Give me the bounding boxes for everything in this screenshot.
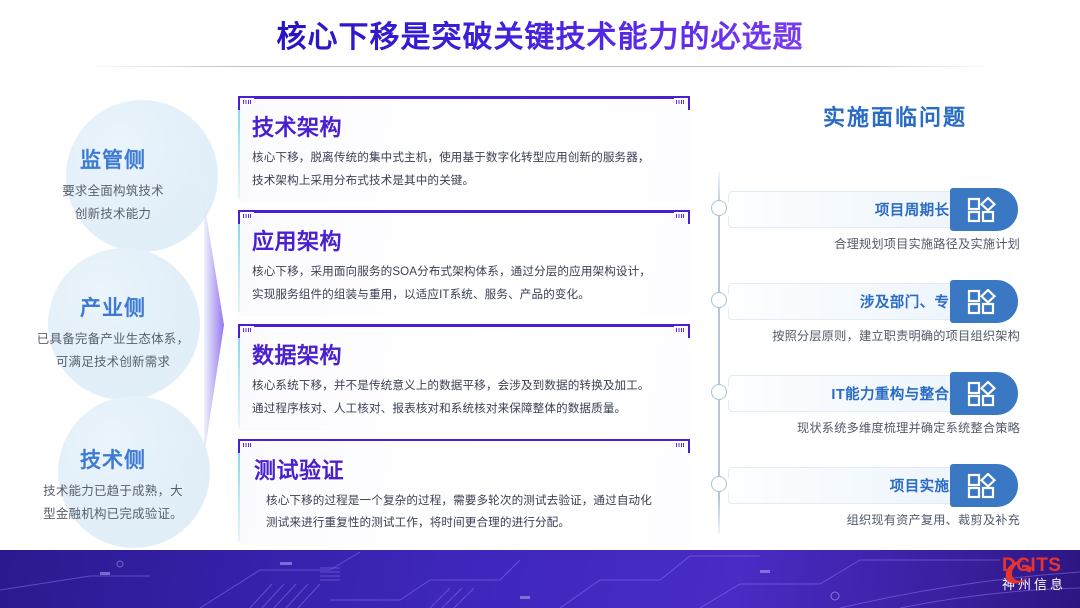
card-left-border — [238, 328, 240, 426]
left-item-desc-line: 创新技术能力 — [8, 203, 218, 226]
left-item-heading: 产业侧 — [8, 292, 218, 322]
left-item-desc-line: 型金融机构已完成验证。 — [8, 503, 218, 526]
left-panel-item-industry: 产业侧 已具备完备产业生态体系， 可满足技术创新需求 — [8, 292, 218, 374]
page-title: 核心下移是突破关键技术能力的必选题 — [277, 12, 804, 56]
card-app-architecture: 应用架构 核心下移，采用面向服务的SOA分布式架构体系，通过分层的应用架构设计，… — [238, 210, 690, 316]
timeline-dot-icon — [711, 384, 727, 400]
blocks-diamond-icon — [950, 372, 1018, 415]
card-body-line: 测试来进行重复性的测试工作，将时间更合理的进行分配。 — [266, 512, 678, 535]
card-body-line: 核心下移，采用面向服务的SOA分布式架构体系，通过分层的应用架构设计， — [252, 261, 678, 284]
arrow-leaf-icon — [190, 150, 230, 510]
left-item-heading: 监管侧 — [8, 144, 218, 174]
left-item-desc-line: 要求全面构筑技术 — [8, 180, 218, 203]
card-top-border — [254, 324, 674, 327]
card-body-line: 技术架构上采用分布式技术是其中的关键。 — [252, 170, 678, 193]
swirl-logo-icon — [1002, 556, 1036, 586]
left-panel-item-regulator: 监管侧 要求全面构筑技术 创新技术能力 — [8, 144, 218, 226]
card-tech-architecture: 技术架构 核心下移，脱离传统的集中式主机，使用基于数字化转型应用创新的服务器， … — [238, 96, 690, 202]
card-corner-top-right — [674, 210, 690, 224]
card-title: 技术架构 — [252, 110, 678, 142]
card-top-border — [254, 96, 674, 99]
left-item-desc-line: 技术能力已趋于成熟，大 — [8, 480, 218, 503]
card-test-verification: 测试验证 核心下移的过程是一个复杂的过程，需要多轮次的测试去验证，通过自动化 测… — [238, 439, 690, 545]
card-left-border — [238, 443, 240, 541]
left-panel-item-technology: 技术侧 技术能力已趋于成熟，大 型金融机构已完成验证。 — [8, 444, 218, 526]
card-body-line: 核心系统下移，并不是传统意义上的数据平移，会涉及到数据的转换及加工。 — [252, 375, 678, 398]
timeline-dot-icon — [711, 476, 727, 492]
card-title: 测试验证 — [252, 453, 678, 485]
card-top-border — [254, 210, 674, 213]
card-corner-top-left — [238, 96, 254, 110]
blocks-diamond-icon — [950, 464, 1018, 507]
left-item-desc: 已具备完备产业生态体系， 可满足技术创新需求 — [8, 328, 218, 374]
timeline-dot-icon — [711, 292, 727, 308]
card-body: 核心下移的过程是一个复杂的过程，需要多轮次的测试去验证，通过自动化 测试来进行重… — [252, 490, 678, 535]
card-body-line: 核心下移的过程是一个复杂的过程，需要多轮次的测试去验证，通过自动化 — [266, 490, 678, 513]
card-corner-top-right — [674, 324, 690, 338]
card-body-line: 通过程序核对、人工核对、报表核对和系统核对来保障整体的数据质量。 — [252, 398, 678, 421]
circuit-pattern-icon — [0, 550, 1080, 608]
issue-sub: 组织现有资产复用、裁剪及补充 — [728, 510, 1020, 528]
card-title: 数据架构 — [252, 338, 678, 370]
left-item-desc: 要求全面构筑技术 创新技术能力 — [8, 180, 218, 226]
card-corner-top-left — [238, 439, 254, 453]
issue-item: 项目实施复杂度高 组织现有资产复用、裁剪及补充 — [700, 458, 1080, 550]
card-corner-top-left — [238, 324, 254, 338]
blocks-diamond-icon — [950, 280, 1018, 323]
card-corner-top-right — [674, 439, 690, 453]
card-data-architecture: 数据架构 核心系统下移，并不是传统意义上的数据平移，会涉及到数据的转换及加工。 … — [238, 324, 690, 430]
issue-list: 项目周期长、任务重 合理规划项目实施路径及实施计划 涉及部门、专业领域多 — [700, 182, 1080, 550]
title-divider — [88, 66, 992, 67]
card-body-line: 实现服务组件的组装与重用，以适应IT系统、服务、产品的变化。 — [252, 284, 678, 307]
card-body: 核心下移，脱离传统的集中式主机，使用基于数字化转型应用创新的服务器， 技术架构上… — [252, 147, 678, 192]
card-body: 核心下移，采用面向服务的SOA分布式架构体系，通过分层的应用架构设计， 实现服务… — [252, 261, 678, 306]
footer-band: DCITS 神州信息 — [0, 550, 1080, 608]
left-item-desc: 技术能力已趋于成熟，大 型金融机构已完成验证。 — [8, 480, 218, 526]
card-corner-top-right — [674, 96, 690, 110]
issue-item: 项目周期长、任务重 合理规划项目实施路径及实施计划 — [700, 182, 1080, 274]
card-left-border — [238, 100, 240, 198]
blocks-diamond-icon — [950, 188, 1018, 231]
architecture-cards: 技术架构 核心下移，脱离传统的集中式主机，使用基于数字化转型应用创新的服务器， … — [238, 96, 690, 553]
card-title: 应用架构 — [252, 224, 678, 256]
card-left-border — [238, 214, 240, 312]
brand-logo: DCITS 神州信息 — [1002, 556, 1066, 591]
page-title-wrap: 核心下移是突破关键技术能力的必选题 — [0, 12, 1080, 56]
issue-sub: 按照分层原则，建立职责明确的项目组织架构 — [728, 326, 1020, 344]
issue-item: 涉及部门、专业领域多 按照分层原则，建立职责明确的项目组织架构 — [700, 274, 1080, 366]
left-item-heading: 技术侧 — [8, 444, 218, 474]
card-body: 核心系统下移，并不是传统意义上的数据平移，会涉及到数据的转换及加工。 通过程序核… — [252, 375, 678, 420]
card-top-border — [254, 439, 674, 442]
issue-sub: 现状系统多维度梳理并确定系统整合策略 — [728, 418, 1020, 436]
issue-item: IT能力重构与整合复杂度高 现状系统多维度梳理并确定系统整合策略 — [700, 366, 1080, 458]
card-corner-top-left — [238, 210, 254, 224]
issue-sub: 合理规划项目实施路径及实施计划 — [728, 234, 1020, 252]
slide-root: 核心下移是突破关键技术能力的必选题 监管侧 要求全面构筑技术 创新技术能力 产业… — [0, 0, 1080, 608]
card-body-line: 核心下移，脱离传统的集中式主机，使用基于数字化转型应用创新的服务器， — [252, 147, 678, 170]
timeline-dot-icon — [711, 200, 727, 216]
right-panel-title: 实施面临问题 — [710, 100, 1080, 132]
left-item-desc-line: 可满足技术创新需求 — [8, 351, 218, 374]
left-item-desc-line: 已具备完备产业生态体系， — [8, 328, 218, 351]
right-panel: 实施面临问题 项目周期长、任务重 合理规划项目实施路径及实施计划 — [700, 100, 1080, 550]
